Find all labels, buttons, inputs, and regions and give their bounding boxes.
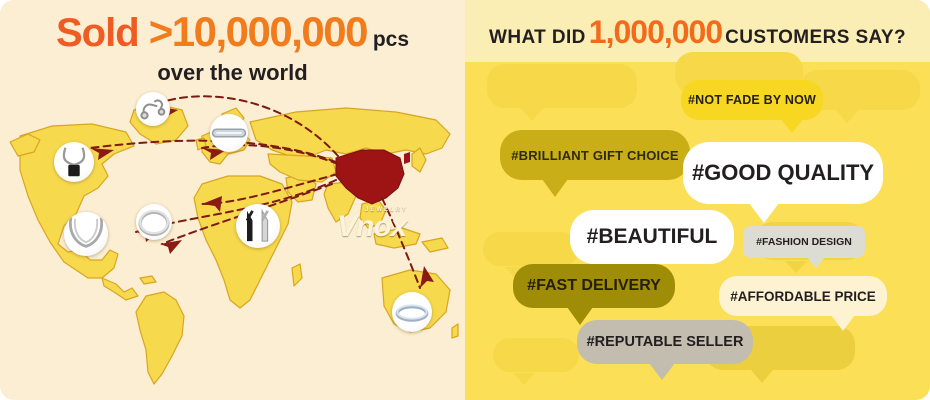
bracelet-icon xyxy=(210,114,248,152)
ghost-bubble-1 xyxy=(487,64,637,108)
left-panel-world-map: Sold >10,000,000 pcs over the world xyxy=(0,0,465,400)
badge-pendant-necklace[interactable] xyxy=(54,142,94,182)
testimonial-label: #NOT FADE BY NOW xyxy=(688,93,816,107)
testimonials-title-suffix: CUSTOMERS SAY? xyxy=(725,27,906,48)
cufflinks-icon xyxy=(236,204,280,248)
ghost-bubble-7 xyxy=(493,338,579,372)
testimonial-label: #AFFORDABLE PRICE xyxy=(730,289,876,304)
ring-icon xyxy=(392,292,432,332)
necklace-icon xyxy=(64,212,108,256)
badge-ring[interactable] xyxy=(392,292,432,332)
pendant-necklace-icon xyxy=(54,142,94,182)
testimonial-bubble-fast-delivery[interactable]: #FAST DELIVERY xyxy=(513,264,675,308)
promo-banner: Sold >10,000,000 pcs over the world xyxy=(0,0,930,400)
testimonial-label: #REPUTABLE SELLER xyxy=(587,334,744,350)
testimonials-customer-count: 1,000,000 xyxy=(589,14,722,50)
badge-bangle[interactable] xyxy=(136,204,172,240)
badge-cufflinks[interactable] xyxy=(236,204,280,248)
headline-subtitle: over the world xyxy=(0,60,465,86)
bangle-icon xyxy=(136,204,172,240)
right-panel-testimonials: WHAT DID1,000,000CUSTOMERS SAY? #NOT FAD… xyxy=(465,0,930,400)
testimonial-label: #BEAUTIFUL xyxy=(587,225,718,249)
page-title: Sold >10,000,000 pcs xyxy=(0,8,465,56)
ghost-bubble-4 xyxy=(483,232,579,266)
badge-earrings[interactable] xyxy=(136,92,170,126)
headline-sold-text: Sold xyxy=(56,11,149,55)
earrings-icon xyxy=(136,92,170,126)
testimonial-label: #BRILLIANT GIFT CHOICE xyxy=(511,148,679,163)
testimonial-bubble-brilliant-gift[interactable]: #BRILLIANT GIFT CHOICE xyxy=(500,130,690,180)
world-map: Vnox JEWELRY xyxy=(6,92,461,392)
headline-unit: pcs xyxy=(367,28,409,51)
badge-bracelet[interactable] xyxy=(210,114,248,152)
testimonial-bubble-good-quality[interactable]: #GOOD QUALITY xyxy=(683,142,883,204)
testimonial-label: #GOOD QUALITY xyxy=(692,160,874,186)
testimonial-label: #FAST DELIVERY xyxy=(527,277,661,295)
testimonial-bubble-not-fade[interactable]: #NOT FADE BY NOW xyxy=(681,80,823,120)
testimonials-title: WHAT DID1,000,000CUSTOMERS SAY? xyxy=(465,14,930,51)
testimonial-bubble-reputable-seller[interactable]: #REPUTABLE SELLER xyxy=(577,320,753,364)
headline-quantity: >10,000,000 xyxy=(149,8,367,55)
badge-necklace[interactable] xyxy=(64,212,108,256)
testimonial-bubble-fashion-design[interactable]: #FASHION DESIGN xyxy=(743,226,865,258)
testimonial-bubble-beautiful[interactable]: #BEAUTIFUL xyxy=(570,210,734,264)
testimonial-label: #FASHION DESIGN xyxy=(756,236,852,248)
testimonials-title-prefix: WHAT DID xyxy=(489,27,586,48)
testimonial-bubble-affordable-price[interactable]: #AFFORDABLE PRICE xyxy=(719,276,887,316)
